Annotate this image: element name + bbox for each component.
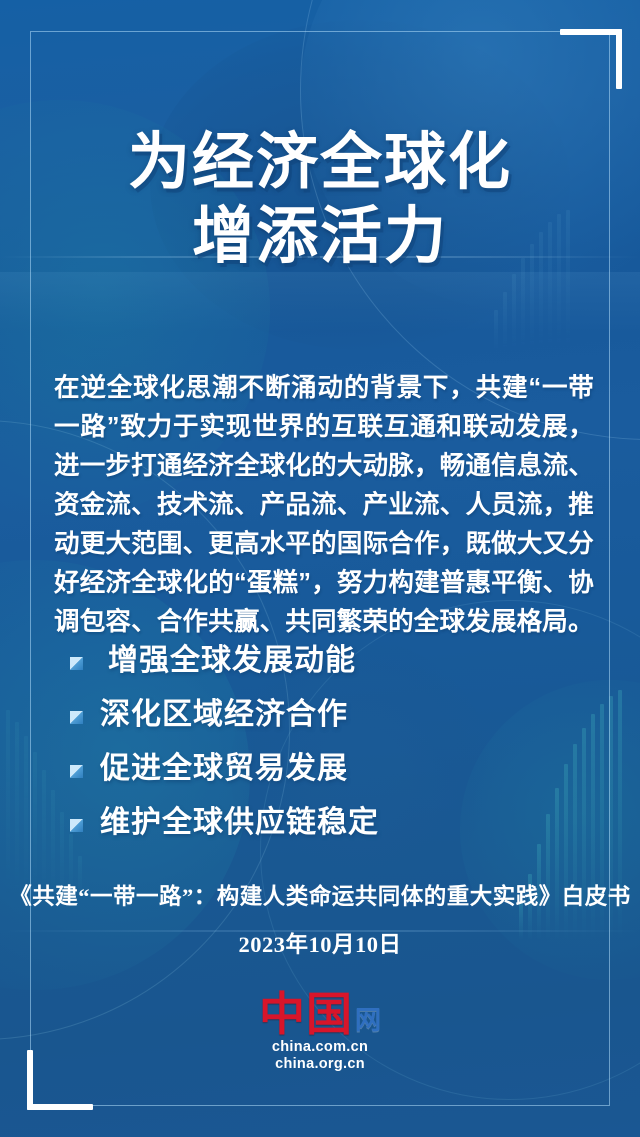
- list-item: 增强全球发展动能: [70, 636, 600, 686]
- list-item-label: 维护全球供应链稳定: [100, 803, 379, 843]
- key-points-list: 增强全球发展动能 深化区域经济合作 促进全球贸易发展 维护全球供应链稳定: [70, 636, 600, 852]
- list-item-label: 促进全球贸易发展: [100, 749, 348, 789]
- source-attribution: 《共建“一带一路”：构建人类命运共同体的重大实践》白皮书 2023年10月10日: [0, 880, 640, 962]
- source-document-title: 《共建“一带一路”：构建人类命运共同体的重大实践》白皮书: [0, 880, 640, 914]
- body-paragraph: 在逆全球化思潮不断涌动的背景下，共建“一带一路”致力于实现世界的互联互通和联动发…: [54, 369, 594, 642]
- logo-wordmark: 中 国 网: [259, 982, 381, 1038]
- logo-character-guo: 国: [306, 992, 352, 1038]
- title-line-1: 为经济全球化: [0, 126, 640, 200]
- logo-character-zhong: 中: [259, 992, 305, 1038]
- logo-urls: china.com.cn china.org.cn: [272, 1039, 368, 1073]
- logo-character-wang: 网: [355, 1005, 381, 1035]
- poster-root: 为经济全球化 增添活力 在逆全球化思潮不断涌动的背景下，共建“一带一路”致力于实…: [0, 0, 640, 1137]
- bullet-square-icon: [70, 657, 83, 670]
- list-item: 促进全球贸易发展: [70, 744, 600, 794]
- bullet-square-icon: [70, 711, 83, 724]
- title-line-2: 增添活力: [0, 200, 640, 274]
- page-title: 为经济全球化 增添活力: [0, 126, 640, 274]
- bullet-square-icon: [70, 765, 83, 778]
- list-item-label: 增强全球发展动能: [108, 641, 356, 681]
- poster-content: 为经济全球化 增添活力 在逆全球化思潮不断涌动的背景下，共建“一带一路”致力于实…: [0, 0, 640, 1137]
- bullet-square-icon: [70, 819, 83, 832]
- publisher-logo: 中 国 网 china.com.cn china.org.cn: [0, 982, 640, 1073]
- list-item-label: 深化区域经济合作: [100, 695, 348, 735]
- logo-url-primary: china.com.cn: [272, 1039, 368, 1056]
- list-item: 深化区域经济合作: [70, 690, 600, 740]
- list-item: 维护全球供应链稳定: [70, 798, 600, 848]
- logo-url-secondary: china.org.cn: [272, 1056, 368, 1073]
- source-publish-date: 2023年10月10日: [0, 928, 640, 962]
